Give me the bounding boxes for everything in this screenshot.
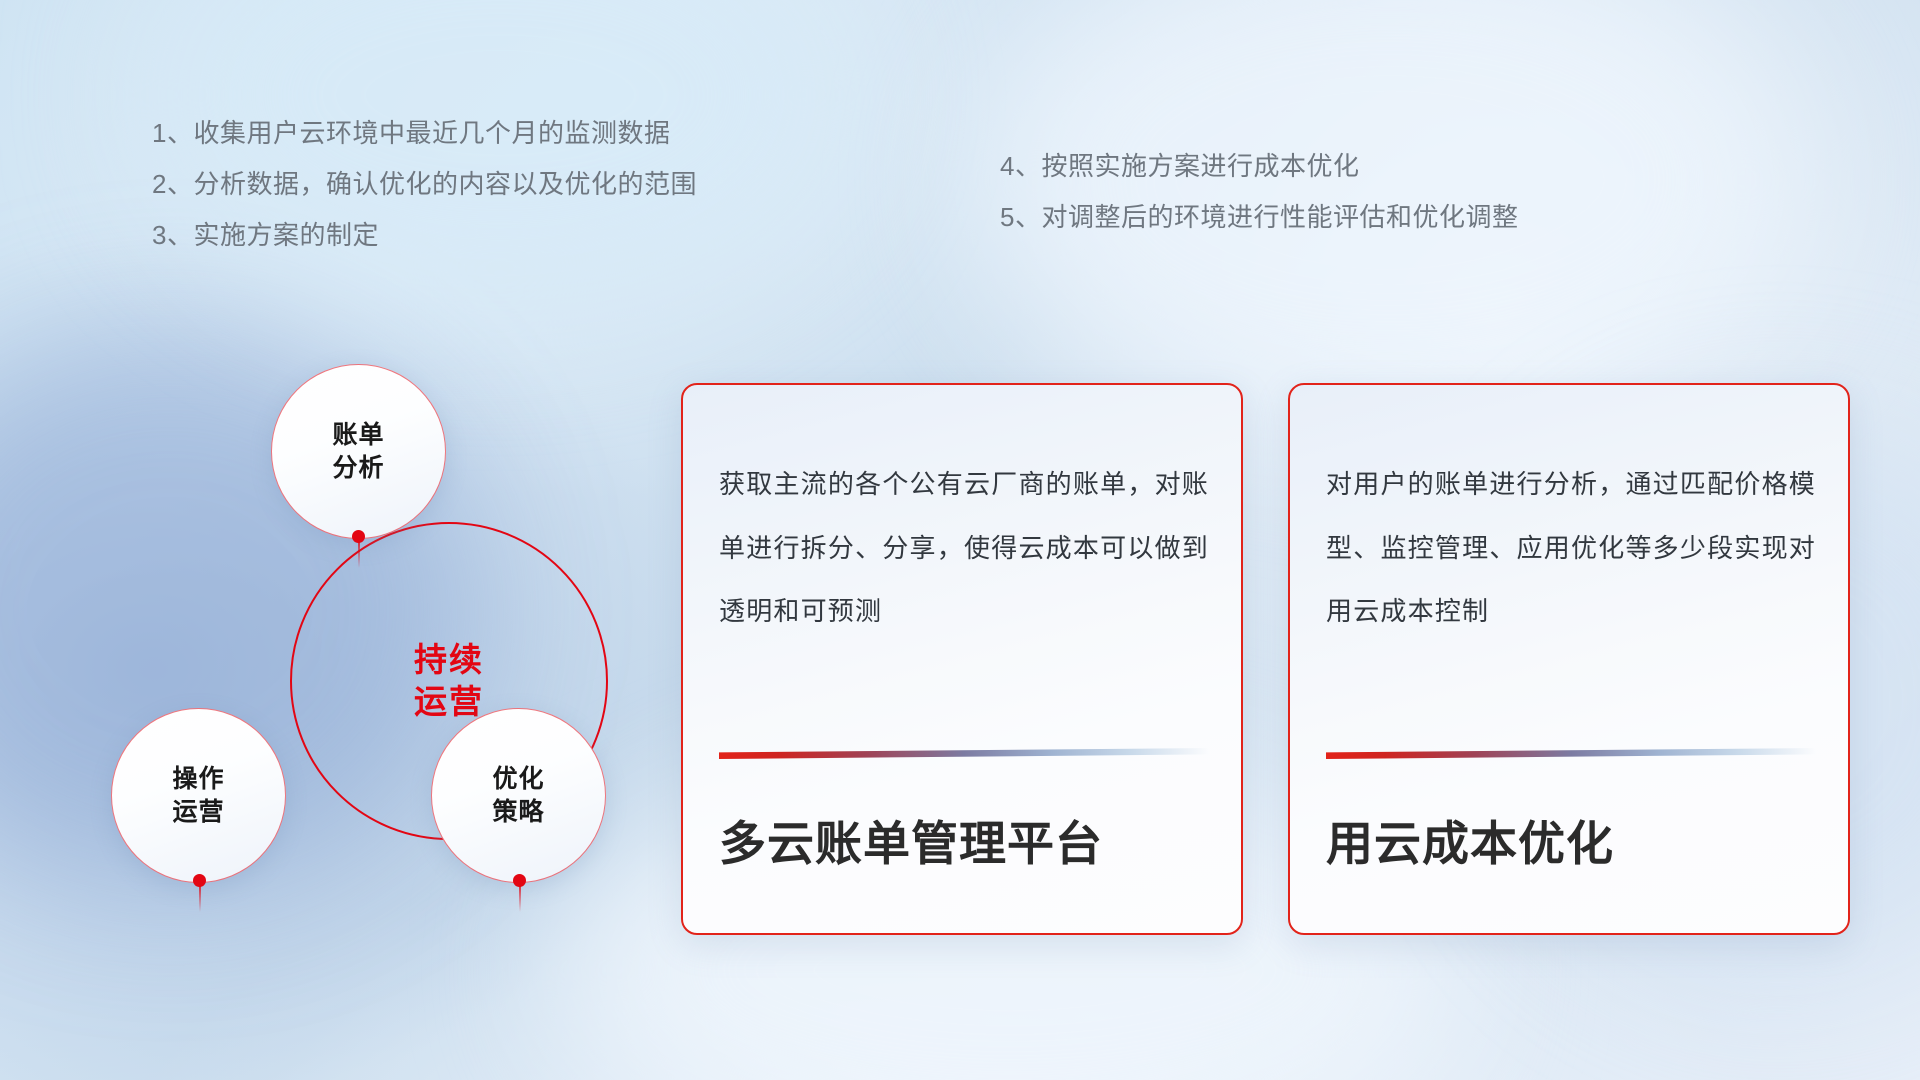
cycle-node-billing-analysis[interactable]: 账单 分析: [271, 364, 446, 539]
card-1-title: 多云账单管理平台: [719, 805, 1103, 874]
cycle-node-operations-line2: 运营: [172, 796, 224, 829]
cycle-diagram: 持续 运营 账单 分析 操作 运营 优化 策略: [100, 350, 660, 950]
cycle-marker-dot-left: [193, 874, 206, 887]
card-2-divider: [1326, 748, 1816, 759]
cycle-node-operations-line1: 操作: [172, 763, 224, 796]
card-1-divider-gradient-bar: [719, 748, 1209, 759]
steps-right-column: 4、按照实施方案进行成本优化 5、对调整后的环境进行性能评估和优化调整: [1000, 153, 1518, 230]
cycle-node-optimization-strategy-line1: 优化: [492, 763, 544, 796]
step-item-3: 3、实施方案的制定: [152, 222, 697, 248]
slide-canvas: 1、收集用户云环境中最近几个月的监测数据 2、分析数据，确认优化的内容以及优化的…: [0, 0, 1920, 1080]
cycle-node-operations[interactable]: 操作 运营: [111, 708, 286, 883]
cycle-center-line2: 运营: [414, 681, 484, 723]
cycle-center-line1: 持续: [414, 639, 484, 681]
card-1-divider: [719, 748, 1209, 759]
step-item-5: 5、对调整后的环境进行性能评估和优化调整: [1000, 204, 1518, 230]
card-1-body-text: 获取主流的各个公有云厂商的账单，对账单进行拆分、分享，使得云成本可以做到透明和可…: [719, 453, 1209, 644]
card-2-body-text: 对用户的账单进行分析，通过匹配价格模型、监控管理、应用优化等多少段实现对用云成本…: [1326, 453, 1816, 644]
cycle-marker-dot-top: [352, 530, 365, 543]
step-item-2: 2、分析数据，确认优化的内容以及优化的范围: [152, 171, 697, 197]
card-2-title: 用云成本优化: [1326, 805, 1614, 874]
cycle-connector-right: [519, 886, 521, 912]
step-item-1: 1、收集用户云环境中最近几个月的监测数据: [152, 120, 697, 146]
step-item-4: 4、按照实施方案进行成本优化: [1000, 153, 1518, 179]
card-cloud-cost-optimization[interactable]: 对用户的账单进行分析，通过匹配价格模型、监控管理、应用优化等多少段实现对用云成本…: [1288, 383, 1850, 935]
steps-left-column: 1、收集用户云环境中最近几个月的监测数据 2、分析数据，确认优化的内容以及优化的…: [152, 120, 697, 248]
cycle-connector-top: [358, 542, 360, 568]
section-divider: [100, 310, 1860, 321]
cycle-connector-left: [199, 886, 201, 912]
cycle-node-optimization-strategy[interactable]: 优化 策略: [431, 708, 606, 883]
cycle-node-optimization-strategy-line2: 策略: [492, 796, 544, 829]
cycle-marker-dot-right: [513, 874, 526, 887]
cycle-node-billing-analysis-line1: 账单: [332, 419, 384, 452]
divider-gradient-bar: [100, 310, 1860, 321]
cycle-node-billing-analysis-line2: 分析: [332, 452, 384, 485]
card-multi-cloud-billing-platform[interactable]: 获取主流的各个公有云厂商的账单，对账单进行拆分、分享，使得云成本可以做到透明和可…: [681, 383, 1243, 935]
card-2-divider-gradient-bar: [1326, 748, 1816, 759]
